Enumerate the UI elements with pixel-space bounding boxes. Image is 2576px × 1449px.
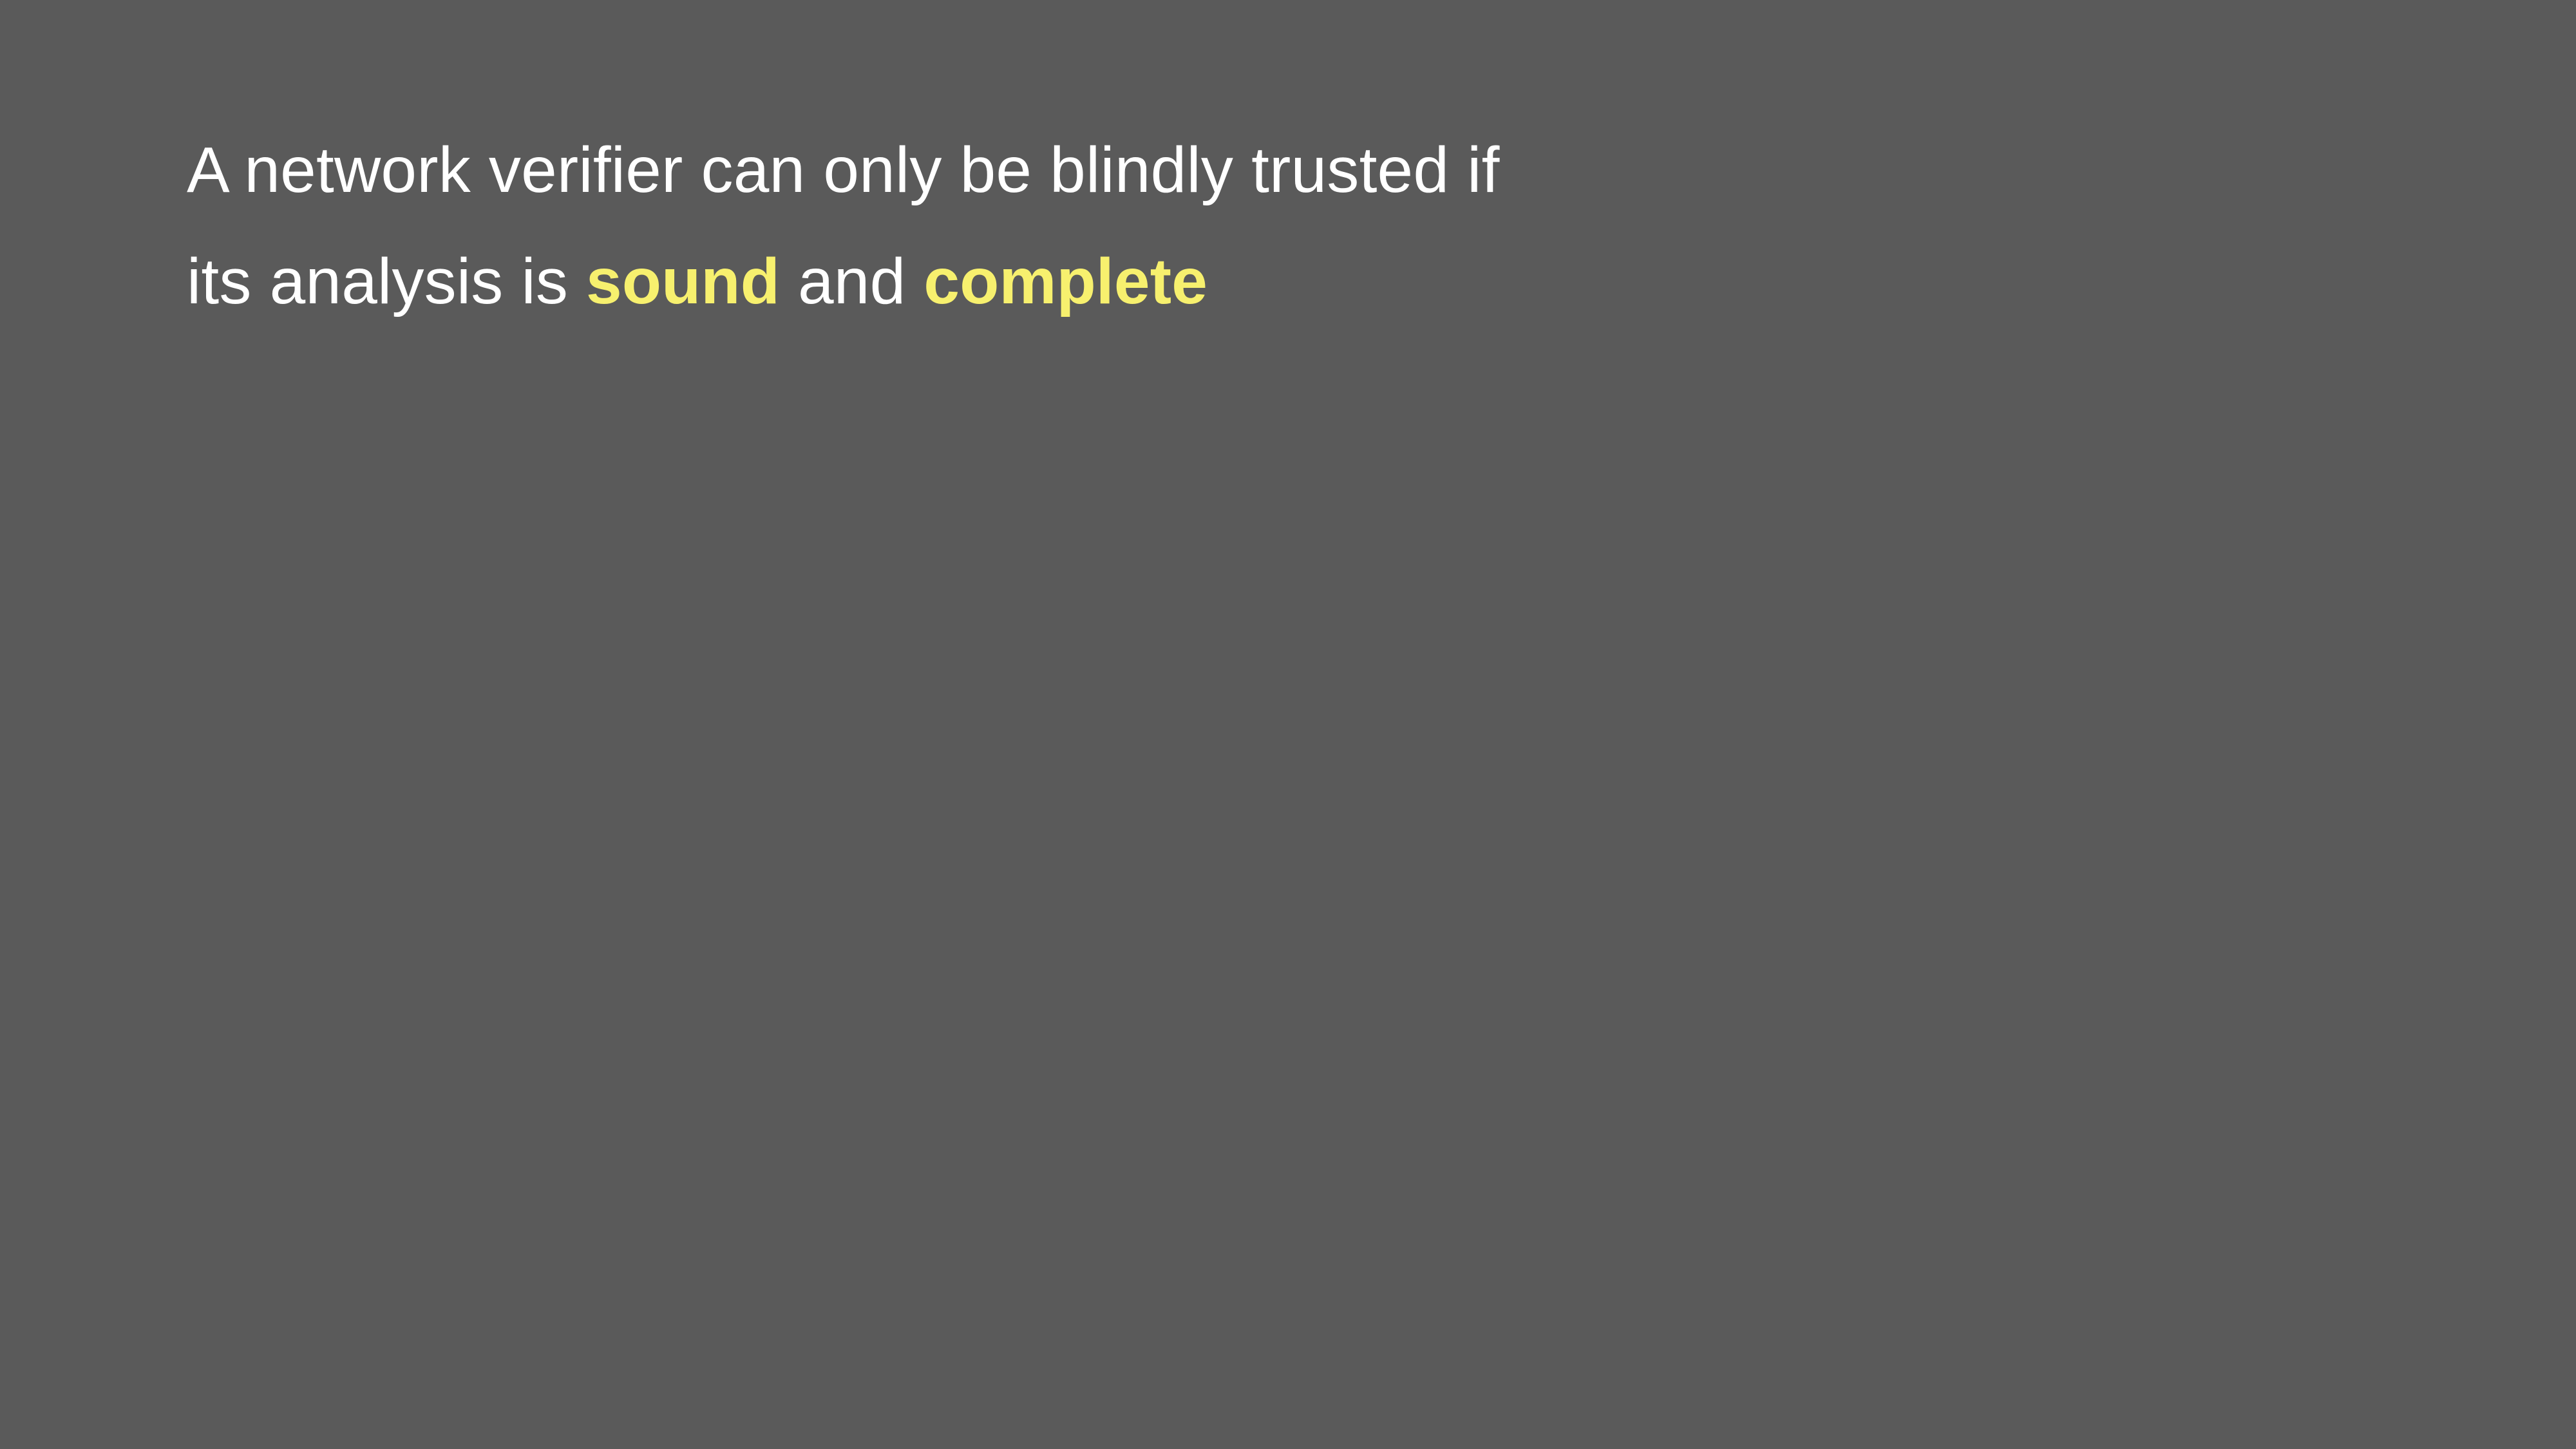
slide-canvas: A network verifier can only be blindly t… [0, 0, 2576, 1449]
headline-line-2: its analysis is sound and complete [187, 226, 2376, 337]
keyword-sound: sound [586, 245, 780, 317]
keyword-complete: complete [923, 245, 1207, 317]
headline-line-2-prefix: its analysis is [187, 245, 586, 317]
headline-line-2-connector: and [780, 245, 923, 317]
slide-body: A network verifier can only be blindly t… [187, 115, 2376, 337]
headline: A network verifier can only be blindly t… [187, 115, 2376, 337]
headline-line-1: A network verifier can only be blindly t… [187, 115, 2376, 226]
